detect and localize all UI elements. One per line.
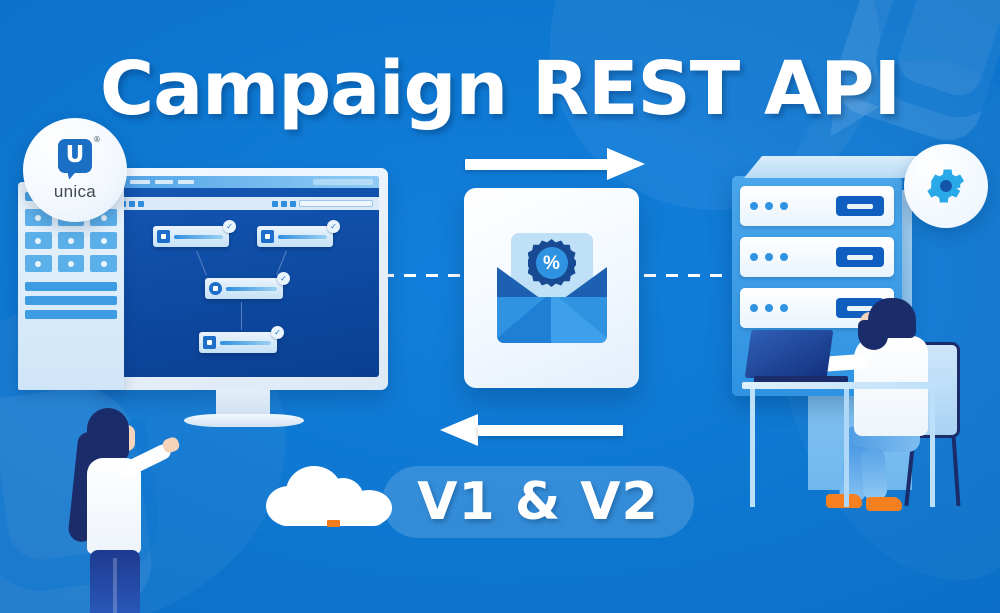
node-check-icon: ✓ bbox=[277, 272, 290, 285]
workflow-node[interactable]: ✓ bbox=[257, 226, 333, 247]
arrow-shaft bbox=[465, 159, 610, 170]
unica-logo-badge: U ® unica bbox=[23, 118, 127, 222]
status-led bbox=[765, 253, 773, 261]
desk-leg bbox=[844, 389, 849, 507]
node-progress-bar bbox=[278, 235, 327, 239]
node-check-icon: ✓ bbox=[223, 220, 236, 233]
status-led bbox=[750, 202, 758, 210]
palette-item[interactable] bbox=[90, 232, 117, 249]
status-led bbox=[780, 202, 788, 210]
node-icon bbox=[209, 282, 222, 295]
shoe bbox=[866, 497, 902, 511]
drive-slot bbox=[836, 247, 884, 267]
arrow-shaft bbox=[478, 425, 623, 436]
discount-badge: % bbox=[528, 239, 576, 287]
open-envelope-icon: % bbox=[497, 233, 607, 343]
palette-item[interactable] bbox=[58, 232, 85, 249]
node-progress-bar bbox=[220, 341, 271, 345]
node-icon bbox=[203, 336, 216, 349]
palette-item[interactable] bbox=[58, 255, 85, 272]
badge-percent-symbol: % bbox=[543, 254, 560, 273]
drive-slot bbox=[836, 196, 884, 216]
registered-trademark-icon: ® bbox=[93, 136, 101, 144]
desk-leg bbox=[750, 389, 755, 507]
app-toolbar bbox=[105, 197, 379, 210]
monitor-stand bbox=[216, 390, 270, 416]
workflow-canvas[interactable]: ✓ ✓ ✓ ✓ bbox=[105, 210, 379, 377]
monitor-base bbox=[184, 414, 304, 427]
toolbar-button[interactable] bbox=[129, 201, 135, 207]
toolbar-button[interactable] bbox=[272, 201, 278, 207]
menu-item[interactable] bbox=[178, 180, 194, 184]
monitor-frame: ✓ ✓ ✓ ✓ bbox=[96, 168, 388, 390]
address-bar[interactable] bbox=[313, 179, 373, 185]
server-and-developer bbox=[720, 150, 990, 530]
status-led bbox=[750, 253, 758, 261]
gear-badge bbox=[904, 144, 988, 228]
browser-menubar bbox=[105, 176, 379, 188]
monitor-accent-chip bbox=[327, 520, 340, 527]
man-working-at-laptop bbox=[830, 298, 966, 508]
hair bbox=[868, 298, 916, 338]
page-title: Campaign REST API bbox=[0, 46, 1000, 132]
toolbar-button[interactable] bbox=[281, 201, 287, 207]
version-pill: V1 & V2 bbox=[382, 466, 694, 538]
unica-wordmark: unica bbox=[54, 182, 96, 202]
cloud-icon bbox=[266, 464, 394, 526]
status-led bbox=[780, 253, 788, 261]
shin bbox=[860, 447, 888, 501]
response-arrow-left bbox=[440, 414, 620, 446]
woman-pointing-at-screen bbox=[63, 408, 178, 613]
arrow-head-left-icon bbox=[440, 414, 478, 446]
version-label: V1 & V2 bbox=[417, 472, 658, 532]
toolbar-button[interactable] bbox=[138, 201, 144, 207]
desk-surface bbox=[742, 382, 952, 389]
node-progress-bar bbox=[174, 235, 223, 239]
arrow-head-right-icon bbox=[607, 148, 645, 180]
poster-canvas: Campaign REST API U ® unica bbox=[0, 0, 1000, 613]
desk-leg bbox=[930, 389, 935, 507]
menu-item[interactable] bbox=[130, 180, 150, 184]
email-campaign-card: % bbox=[464, 188, 639, 388]
palette-item[interactable] bbox=[90, 255, 117, 272]
request-arrow-right bbox=[465, 148, 645, 180]
status-led bbox=[765, 202, 773, 210]
laptop-screen bbox=[745, 330, 834, 378]
palette-item[interactable] bbox=[25, 232, 52, 249]
node-icon bbox=[157, 230, 170, 243]
node-check-icon: ✓ bbox=[271, 326, 284, 339]
leg-split bbox=[113, 558, 117, 613]
unica-u-mark: U ® bbox=[58, 139, 92, 173]
node-icon bbox=[261, 230, 274, 243]
list-item[interactable] bbox=[25, 296, 117, 305]
menu-item[interactable] bbox=[155, 180, 173, 184]
palette-item[interactable] bbox=[25, 255, 52, 272]
server-rack-top bbox=[744, 156, 924, 178]
node-check-icon: ✓ bbox=[327, 220, 340, 233]
monitor-screen: ✓ ✓ ✓ ✓ bbox=[105, 176, 379, 377]
node-progress-bar bbox=[226, 287, 277, 291]
list-item[interactable] bbox=[25, 282, 117, 291]
toolbar-button[interactable] bbox=[290, 201, 296, 207]
workflow-link bbox=[241, 302, 242, 330]
desk-with-laptop bbox=[726, 300, 988, 525]
workflow-node[interactable]: ✓ bbox=[153, 226, 229, 247]
gear-icon bbox=[923, 163, 969, 209]
workflow-link bbox=[196, 251, 207, 275]
server-bay bbox=[740, 186, 894, 226]
side-panel-list bbox=[25, 282, 117, 319]
toolbar-search-input[interactable] bbox=[299, 200, 373, 207]
server-bay bbox=[740, 237, 894, 277]
envelope-front bbox=[497, 297, 607, 343]
list-item[interactable] bbox=[25, 310, 117, 319]
hair bbox=[87, 408, 129, 464]
workflow-node[interactable]: ✓ bbox=[199, 332, 277, 353]
workflow-node[interactable]: ✓ bbox=[205, 278, 283, 299]
unica-u-letter: U bbox=[66, 144, 85, 167]
